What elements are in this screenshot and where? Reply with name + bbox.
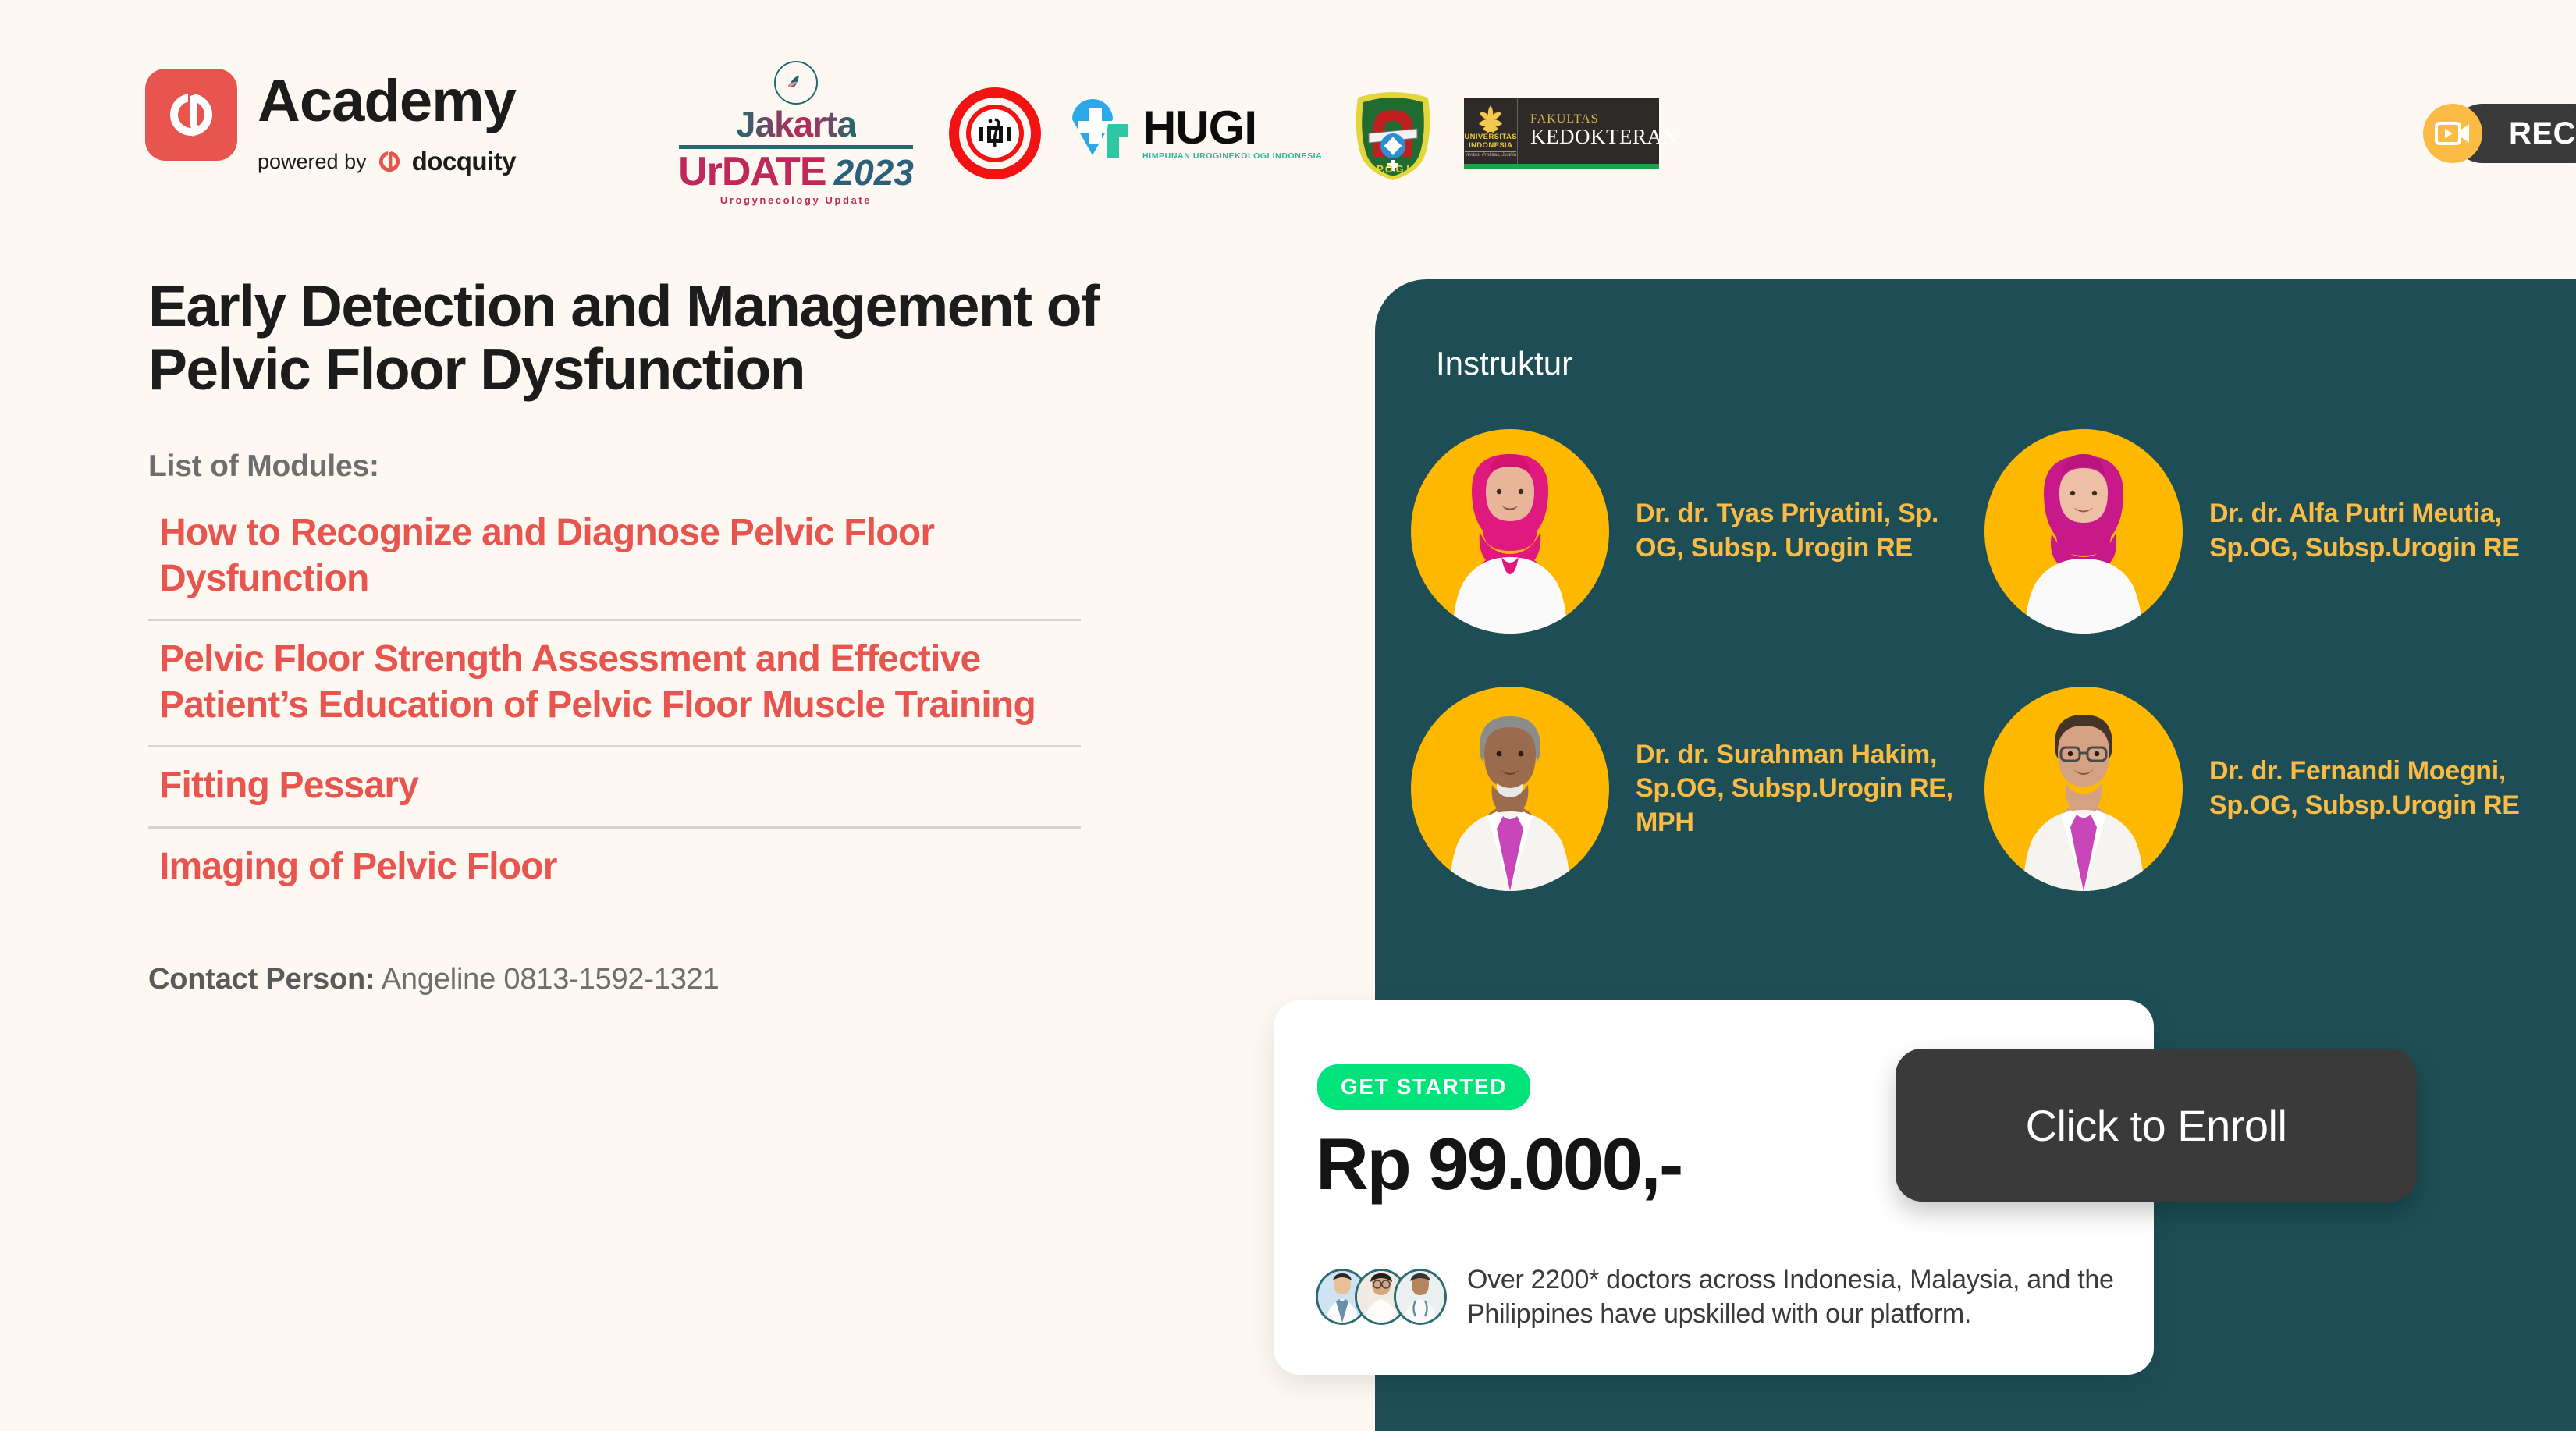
main-content: Early Detection and Management of Pelvic… (148, 275, 1264, 996)
list-item: Dr. dr. Tyas Priyatini, Sp. OG, Subsp. U… (1411, 429, 1984, 634)
urdate-year-text: 2023 (834, 154, 914, 190)
social-proof: Over 2200* doctors across Indonesia, Mal… (1316, 1262, 2143, 1331)
avatar-group (1316, 1269, 1447, 1325)
svg-text:P.O.G.I: P.O.G.I (1377, 163, 1410, 175)
list-item[interactable]: Fitting Pessary (148, 745, 1081, 826)
instructor-avatar-fernandi (1984, 687, 2183, 891)
urdate-jakarta-text: Jakarta (736, 106, 856, 142)
hugi-wordmark: HUGI (1142, 106, 1322, 149)
hugi-pin-icon (1069, 96, 1136, 171)
page-title: Early Detection and Management of Pelvic… (148, 275, 1264, 401)
powered-by-label: powered by (258, 150, 367, 174)
enroll-button-label: Click to Enroll (2026, 1100, 2287, 1151)
partner-logo-idi (949, 87, 1041, 179)
urdate-name-text: UrDATE (678, 151, 826, 192)
fkui-faculty-label: FAKULTAS (1530, 113, 1678, 126)
modules-label: List of Modules: (148, 449, 1264, 484)
docquity-speech-bubble-icon (145, 69, 237, 161)
urogynecology-seal-icon (774, 61, 818, 105)
status-badge: GET STARTED (1317, 1064, 1530, 1110)
fkui-university-line1: UNIVERSITAS (1464, 133, 1517, 142)
list-item: Dr. dr. Fernandi Moegni, Sp.OG, Subsp.Ur… (1984, 687, 2558, 891)
enroll-button[interactable]: Click to Enroll (1896, 1049, 2417, 1202)
instructor-name: Dr. dr. Alfa Putri Meutia, Sp.OG, Subsp.… (2209, 497, 2558, 565)
instructors-title: Instruktur (1436, 345, 1572, 382)
fkui-motto: Veritas, Probitas, Justitia (1465, 151, 1516, 158)
partner-logo-hugi: HUGI HIMPUNAN UROGINEKOLOGI INDONESIA (1069, 96, 1322, 171)
pogi-crest-icon: P.O.G.I (1350, 85, 1436, 182)
instructor-name: Dr. dr. Tyas Priyatini, Sp. OG, Subsp. U… (1636, 497, 1984, 565)
instructor-avatar-tyas (1411, 429, 1609, 634)
docquity-small-icon (376, 148, 403, 175)
enroll-card: GET STARTED Rp 99.000,- Click to Enroll (1274, 1000, 2154, 1375)
academy-brand: Academy powered by docquity (145, 69, 516, 176)
header: Academy powered by docquity (0, 0, 2576, 257)
list-item[interactable]: Pelvic Floor Strength Assessment and Eff… (148, 619, 1081, 745)
brand-title: Academy (258, 72, 516, 131)
instructor-name: Dr. dr. Fernandi Moegni, Sp.OG, Subsp.Ur… (2209, 755, 2558, 822)
instructor-avatar-surahman (1411, 687, 1609, 891)
contact-label: Contact Person: (148, 963, 375, 996)
price-value: Rp 99.000,- (1316, 1122, 1682, 1206)
hugi-subtitle: HIMPUNAN UROGINEKOLOGI INDONESIA (1142, 151, 1322, 161)
instructors-grid: Dr. dr. Tyas Priyatini, Sp. OG, Subsp. U… (1411, 429, 2558, 891)
list-item: Dr. dr. Surahman Hakim, Sp.OG, Subsp.Uro… (1411, 687, 1984, 891)
modules-list: How to Recognize and Diagnose Pelvic Flo… (148, 501, 1081, 907)
rec-badge: REC (2423, 104, 2482, 163)
social-proof-text: Over 2200* doctors across Indonesia, Mal… (1467, 1262, 2143, 1331)
contact-value: Angeline 0813-1592-1321 (382, 963, 720, 996)
partner-logo-fkui: UNIVERSITAS INDONESIA Veritas, Probitas,… (1464, 98, 1659, 169)
contact-line: Contact Person: Angeline 0813-1592-1321 (148, 963, 1264, 996)
urdate-tagline: Urogynecology Update (720, 194, 872, 206)
idi-asclepius-icon (971, 109, 1019, 158)
list-item: Dr. dr. Alfa Putri Meutia, Sp.OG, Subsp.… (1984, 429, 2558, 634)
instructor-avatar-alfa (1984, 429, 2183, 634)
doctor-avatar-3 (1394, 1269, 1447, 1325)
universitas-indonesia-makara-icon (1474, 104, 1507, 133)
docquity-wordmark: docquity (412, 147, 517, 176)
instructor-name: Dr. dr. Surahman Hakim, Sp.OG, Subsp.Uro… (1636, 738, 1984, 840)
list-item[interactable]: Imaging of Pelvic Floor (148, 826, 1081, 907)
partner-logo-pogi: P.O.G.I (1350, 85, 1436, 182)
list-item[interactable]: How to Recognize and Diagnose Pelvic Flo… (148, 501, 1081, 619)
fkui-university-line2: INDONESIA (1464, 142, 1517, 151)
poster-root: Academy powered by docquity (0, 0, 2576, 1431)
rec-label: REC (2509, 116, 2576, 151)
partner-logos: Jakarta UrDATE 2023 Urogynecology Update (671, 61, 1659, 206)
video-camera-icon (2423, 104, 2482, 163)
partner-logo-urdate: Jakarta UrDATE 2023 Urogynecology Update (671, 61, 921, 206)
fkui-department-label: KEDOKTERAN (1530, 126, 1678, 147)
